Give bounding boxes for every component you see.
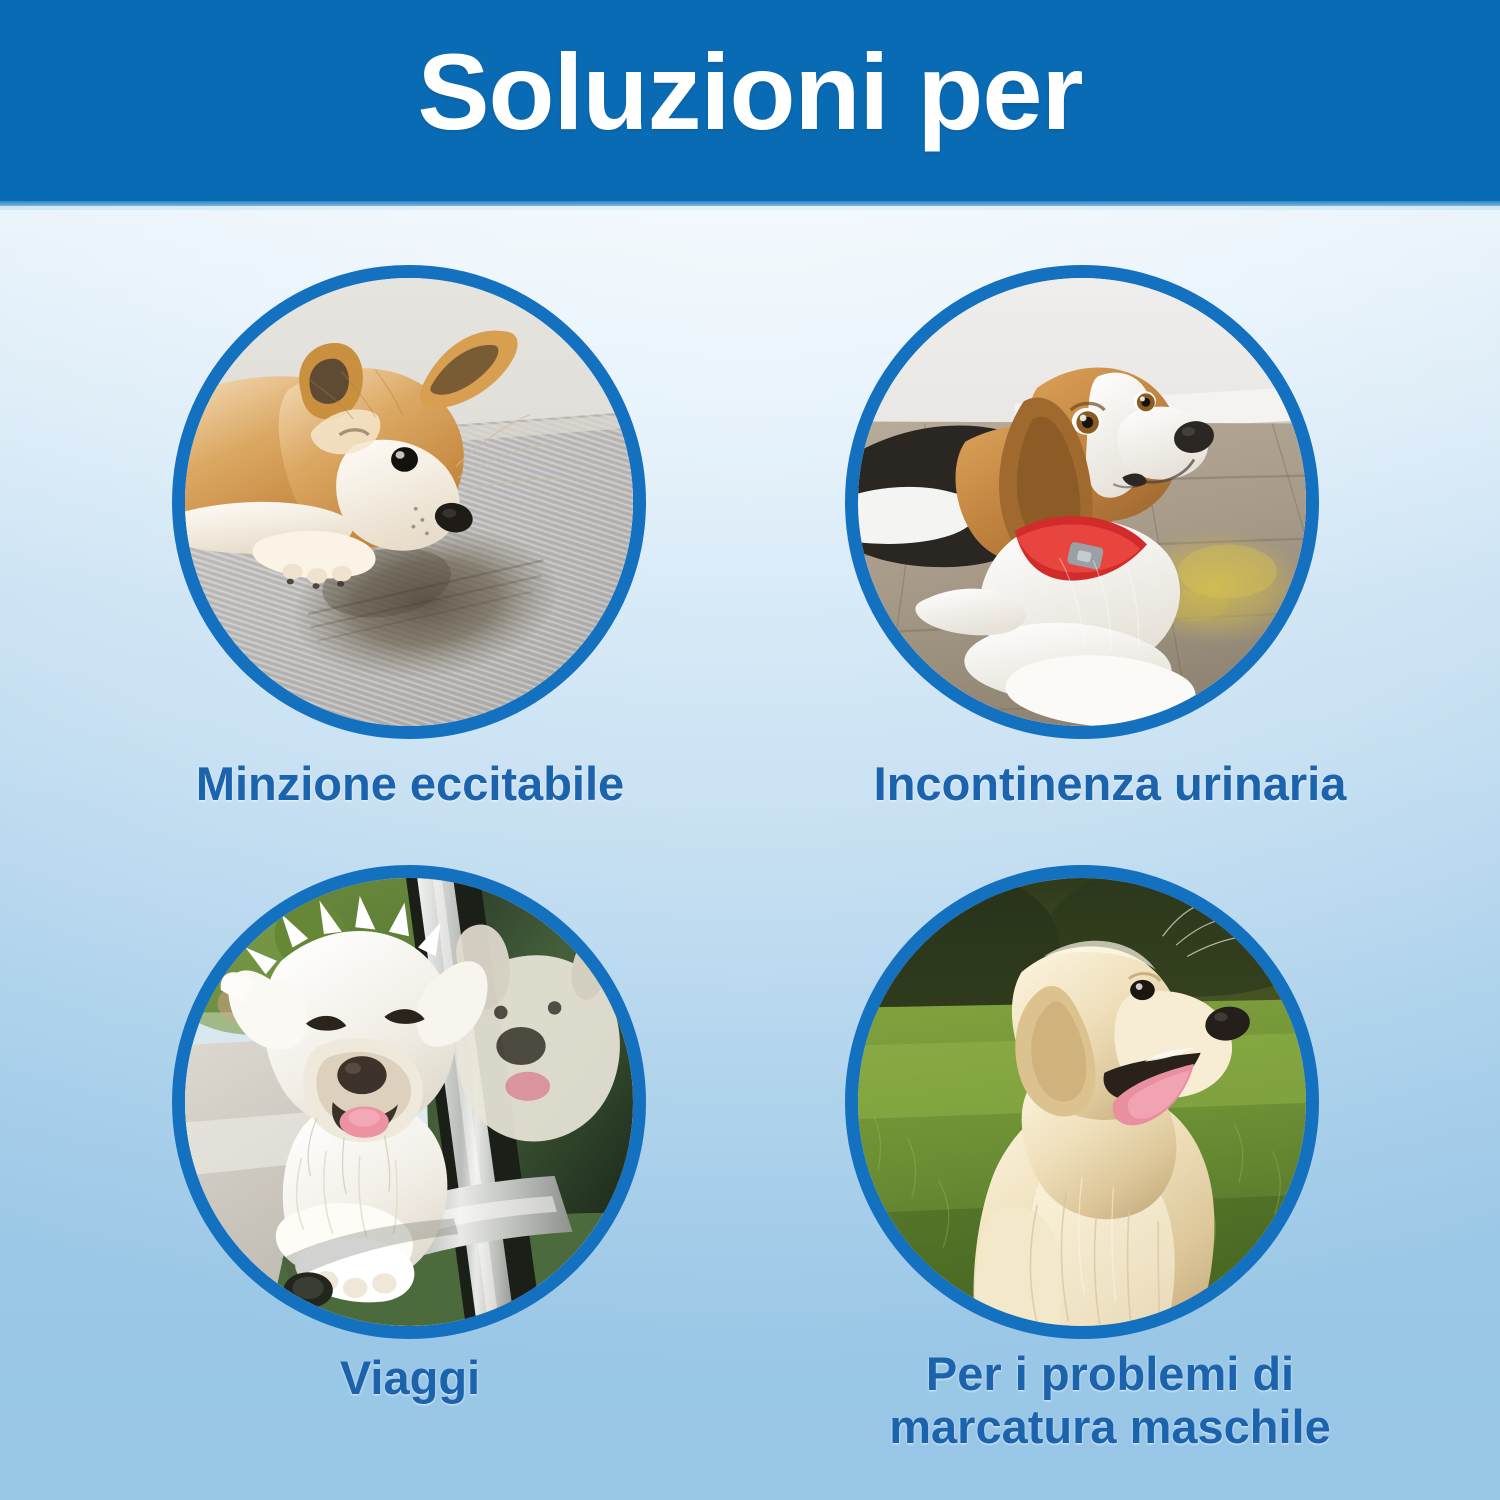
card-image-travel: [172, 865, 646, 1339]
shiba-puppy-on-stained-carpet-photo: [185, 278, 633, 726]
card-image-excitable-urination: [172, 265, 646, 739]
card-caption-urinary-incontinence: Incontinenza urinaria: [740, 758, 1480, 811]
card-caption-male-marking: Per i problemi di marcatura maschile: [740, 1348, 1480, 1453]
beagle-on-wood-floor-photo: [858, 278, 1306, 726]
card-caption-excitable-urination: Minzione eccitabile: [60, 758, 760, 811]
card-caption-travel: Viaggi: [60, 1352, 760, 1405]
product-infographic-page: Soluzioni per: [0, 0, 1500, 1500]
page-title: Soluzioni per: [0, 28, 1500, 155]
card-image-urinary-incontinence: [845, 265, 1319, 739]
golden-retriever-in-grass-photo: [858, 878, 1306, 1326]
card-image-male-marking: [845, 865, 1319, 1339]
header-banner-underline: [0, 201, 1500, 206]
white-dogs-in-car-window-photo: [185, 878, 633, 1326]
